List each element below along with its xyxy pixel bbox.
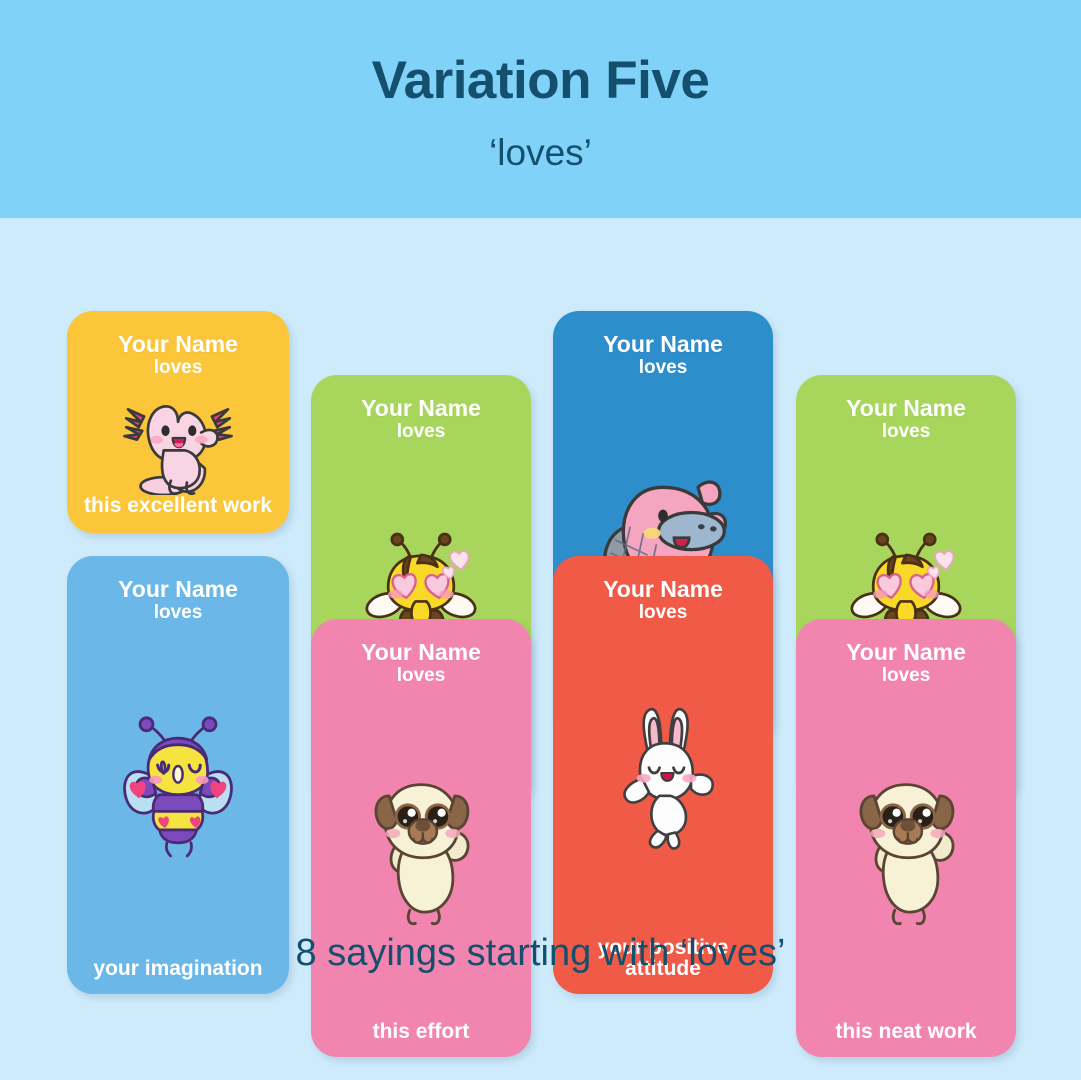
sticker-verb-line: loves — [397, 422, 446, 442]
sticker-card[interactable]: Your Namelovesthis effort — [311, 619, 531, 1057]
axolotl-icon — [67, 378, 289, 495]
sticker-verb-line: loves — [639, 358, 688, 378]
sticker-card[interactable]: Your Namelovesyour imagination — [67, 556, 289, 994]
page-title: Variation Five — [0, 50, 1081, 111]
butterfly-bee-icon — [67, 623, 289, 958]
sticker-name-line: Your Name — [361, 396, 481, 420]
sticker-name-line: Your Name — [603, 577, 723, 601]
sticker-phrase: this effort — [311, 1021, 531, 1057]
header-band: Variation Five ‘loves’ — [0, 0, 1081, 218]
sticker-name-line: Your Name — [603, 332, 723, 356]
sticker-name-line: Your Name — [846, 640, 966, 664]
sticker-verb-line: loves — [639, 603, 688, 623]
sticker-name-line: Your Name — [846, 396, 966, 420]
sticker-grid: Your Namelovesthis excellent workYour Na… — [0, 218, 1081, 908]
bunny-icon — [553, 623, 773, 937]
sticker-name-line: Your Name — [118, 577, 238, 601]
sticker-card[interactable]: Your Namelovesthis excellent work — [67, 311, 289, 533]
sticker-card[interactable]: Your Namelovesthis neat work — [796, 619, 1016, 1057]
sticker-phrase: this neat work — [796, 1021, 1016, 1057]
sticker-verb-line: loves — [397, 666, 446, 686]
page-subtitle: ‘loves’ — [0, 132, 1081, 174]
sticker-verb-line: loves — [882, 666, 931, 686]
footer-caption: 8 sayings starting with ‘loves’ — [0, 932, 1081, 975]
sticker-verb-line: loves — [882, 422, 931, 442]
sticker-name-line: Your Name — [118, 332, 238, 356]
sticker-name-line: Your Name — [361, 640, 481, 664]
sticker-verb-line: loves — [154, 358, 203, 378]
sticker-card[interactable]: Your Namelovesyour positive attitude — [553, 556, 773, 994]
sticker-verb-line: loves — [154, 603, 203, 623]
sticker-phrase: this excellent work — [67, 495, 289, 533]
